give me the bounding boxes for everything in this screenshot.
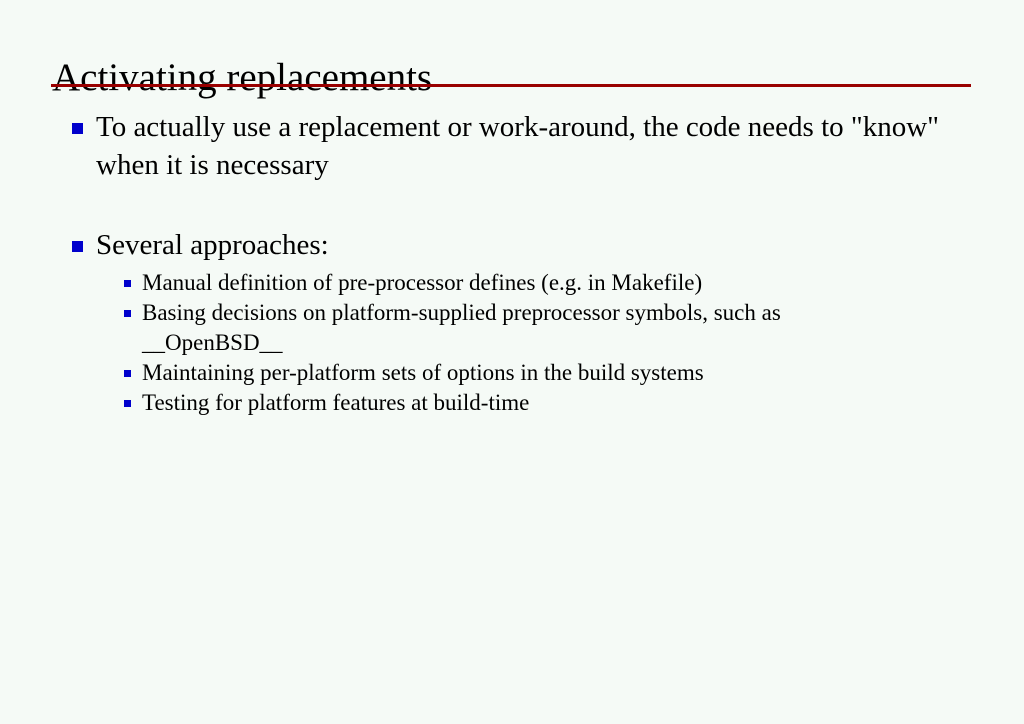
sub-bullet-list: Manual definition of pre-processor defin…	[0, 268, 1024, 418]
bullet-text: Several approaches:	[96, 226, 964, 264]
bullet-item-secondary-1: Manual definition of pre-processor defin…	[0, 268, 1024, 298]
small-square-bullet-icon	[124, 280, 131, 287]
spacer	[0, 184, 1024, 226]
small-square-bullet-icon	[124, 370, 131, 377]
square-bullet-icon	[72, 123, 83, 134]
bullet-item-primary-2: Several approaches:	[0, 226, 1024, 264]
sub-bullet-text: Manual definition of pre-processor defin…	[142, 268, 874, 298]
slide: Activating replacements To actually use …	[0, 0, 1024, 724]
sub-bullet-text: Basing decisions on platform-supplied pr…	[142, 298, 874, 358]
bullet-item-secondary-2: Basing decisions on platform-supplied pr…	[0, 298, 1024, 358]
square-bullet-icon	[72, 241, 83, 252]
bullet-text: To actually use a replacement or work-ar…	[96, 108, 964, 184]
sub-bullet-text: Testing for platform features at build-t…	[142, 388, 874, 418]
slide-body: To actually use a replacement or work-ar…	[0, 108, 1024, 418]
bullet-item-primary-1: To actually use a replacement or work-ar…	[0, 108, 1024, 184]
bullet-item-secondary-4: Testing for platform features at build-t…	[0, 388, 1024, 418]
bullet-item-secondary-3: Maintaining per-platform sets of options…	[0, 358, 1024, 388]
page-title: Activating replacements	[52, 55, 432, 101]
small-square-bullet-icon	[124, 400, 131, 407]
sub-bullet-text: Maintaining per-platform sets of options…	[142, 358, 874, 388]
title-underline-rule	[51, 84, 971, 87]
small-square-bullet-icon	[124, 310, 131, 317]
